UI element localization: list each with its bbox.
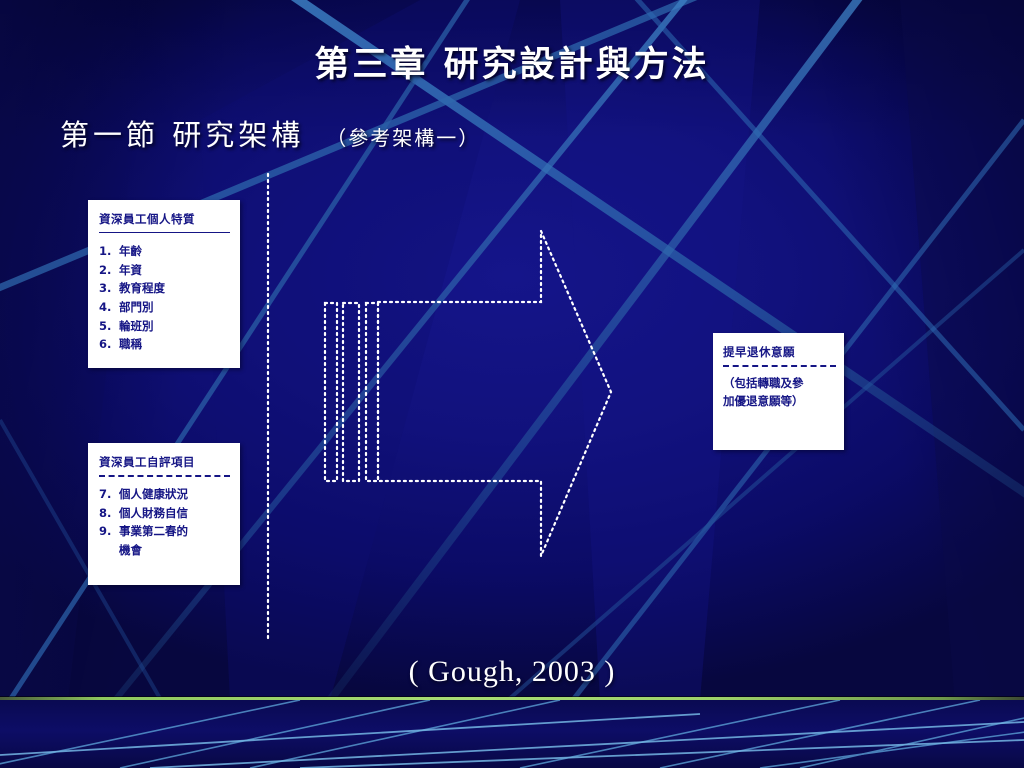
list-item-label: 年齡 <box>119 242 142 261</box>
list-item-label: 教育程度 <box>119 279 165 298</box>
list-item-label: 職稱 <box>119 335 142 354</box>
list-item: 1. 年齡 <box>99 242 230 261</box>
list-item-number: 7. <box>99 485 119 504</box>
arrow-tail-bar-1 <box>325 303 337 481</box>
arrow-tail-bar-2 <box>343 303 359 481</box>
list-item-continuation-label: 機會 <box>99 541 142 560</box>
list-item-number: 9. <box>99 522 119 541</box>
arrow-tail-bar-3 <box>366 303 378 481</box>
box-intent-body: （包括轉職及參 加優退意願等） <box>723 375 836 411</box>
list-item: 4. 部門別 <box>99 298 230 317</box>
list-item-label: 事業第二春的 <box>119 522 188 541</box>
box-intent-line-2: 加優退意願等） <box>723 393 836 411</box>
box-senior-employee-traits: 資深員工個人特質 1. 年齡 2. 年資 3. 教育程度 4. 部門別 5. 輪… <box>88 200 240 368</box>
box-early-retirement-intention: 提早退休意願 （包括轉職及參 加優退意願等） <box>713 333 844 450</box>
box-self-eval-list: 7. 個人健康狀況 8. 個人財務自信 9. 事業第二春的 機會 <box>99 485 230 560</box>
list-item: 5. 輪班別 <box>99 317 230 336</box>
bottom-band-lines <box>0 700 1024 768</box>
list-item-label: 部門別 <box>119 298 154 317</box>
list-item: 7. 個人健康狀況 <box>99 485 230 504</box>
list-item-number: 8. <box>99 504 119 523</box>
box-intent-title: 提早退休意願 <box>723 344 836 360</box>
box-traits-divider <box>99 232 230 233</box>
list-item: 9. 事業第二春的 <box>99 522 230 541</box>
list-item-label: 個人財務自信 <box>119 504 188 523</box>
slide-canvas: 第三章 研究設計與方法 第一節 研究架構 （參考架構一） 資深員工個人特質 1.… <box>0 0 1024 768</box>
list-item-number: 6. <box>99 335 119 354</box>
list-item-number: 1. <box>99 242 119 261</box>
list-item: 6. 職稱 <box>99 335 230 354</box>
list-item-number: 2. <box>99 261 119 280</box>
list-item-number: 5. <box>99 317 119 336</box>
block-arrow <box>378 231 611 556</box>
box-intent-line-1: （包括轉職及參 <box>723 375 836 393</box>
list-item-label: 年資 <box>119 261 142 280</box>
list-item-number: 4. <box>99 298 119 317</box>
framework-diagram <box>0 0 1024 768</box>
box-senior-employee-self-evaluation: 資深員工自評項目 7. 個人健康狀況 8. 個人財務自信 9. 事業第二春的 機… <box>88 443 240 585</box>
bottom-decorative-band <box>0 700 1024 768</box>
box-self-eval-title: 資深員工自評項目 <box>99 454 230 470</box>
list-item-label: 輪班別 <box>119 317 154 336</box>
citation-reference: ( Gough, 2003 ) <box>0 655 1024 689</box>
list-item-label: 個人健康狀況 <box>119 485 188 504</box>
list-item-continuation: 機會 <box>99 541 230 560</box>
box-traits-list: 1. 年齡 2. 年資 3. 教育程度 4. 部門別 5. 輪班別 6. 職稱 <box>99 242 230 354</box>
list-item: 3. 教育程度 <box>99 279 230 298</box>
box-intent-divider <box>723 365 836 367</box>
list-item-number: 3. <box>99 279 119 298</box>
box-traits-title: 資深員工個人特質 <box>99 211 230 227</box>
box-self-eval-divider <box>99 475 230 477</box>
list-item: 8. 個人財務自信 <box>99 504 230 523</box>
list-item: 2. 年資 <box>99 261 230 280</box>
